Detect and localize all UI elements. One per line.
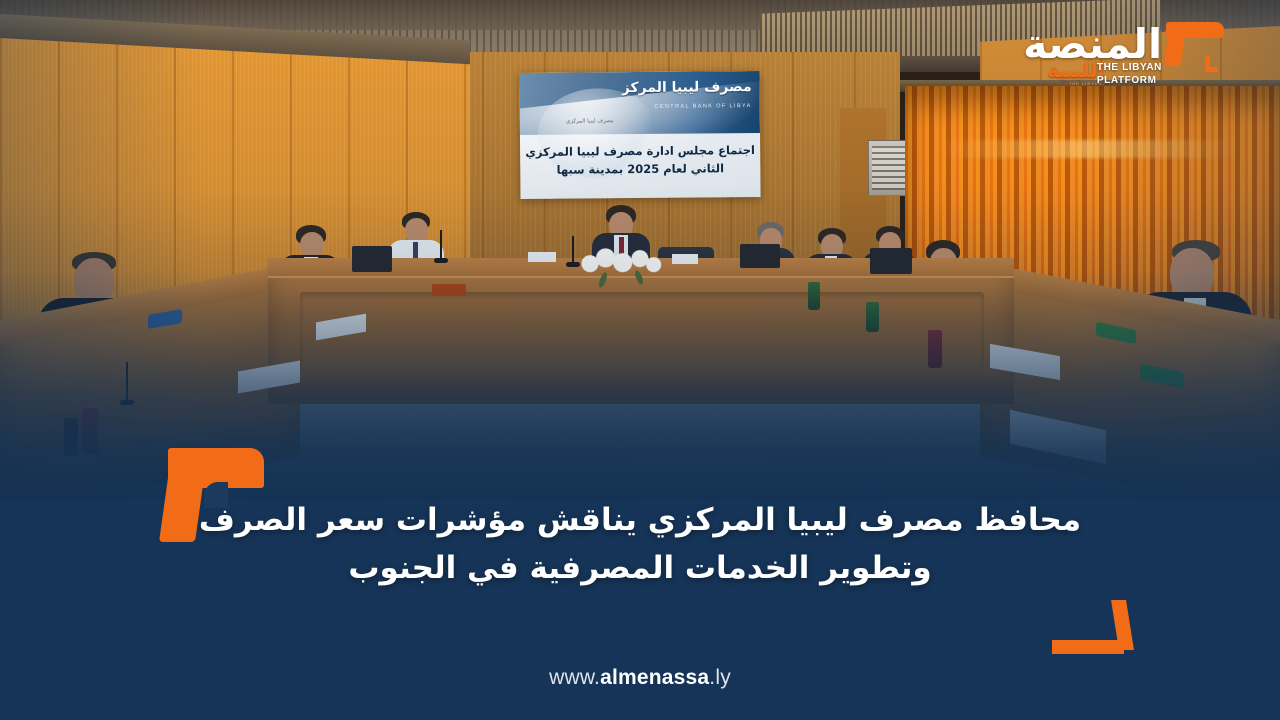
website-url[interactable]: www.almenassa.ly <box>0 666 1280 690</box>
headline-block: محافظ مصرف ليبيا المركزي يناقش مؤشرات سع… <box>0 496 1280 626</box>
headline-line-2: وتطوير الخدمات المصرفية في الجنوب <box>0 544 1280 592</box>
url-tld: .ly <box>709 666 731 689</box>
logo-arabic-subtitle: الليبية <box>1048 62 1104 81</box>
logo-arabic-text: المنصة <box>1023 24 1162 65</box>
logo-mark-icon <box>1166 22 1224 66</box>
logo-english-text: THE LIBYAN PLATFORM <box>1097 62 1162 87</box>
almenassa-logo[interactable]: المنصة الليبية THE LIBYAN THE LIBYAN PLA… <box>1024 14 1224 98</box>
url-domain: almenassa <box>600 666 709 689</box>
news-card: مصرف ليبيا المركزي CENTRAL BANK OF LIBYA… <box>0 0 1280 720</box>
headline-line-1: محافظ مصرف ليبيا المركزي يناقش مؤشرات سع… <box>0 496 1280 544</box>
url-prefix: www. <box>549 666 600 689</box>
